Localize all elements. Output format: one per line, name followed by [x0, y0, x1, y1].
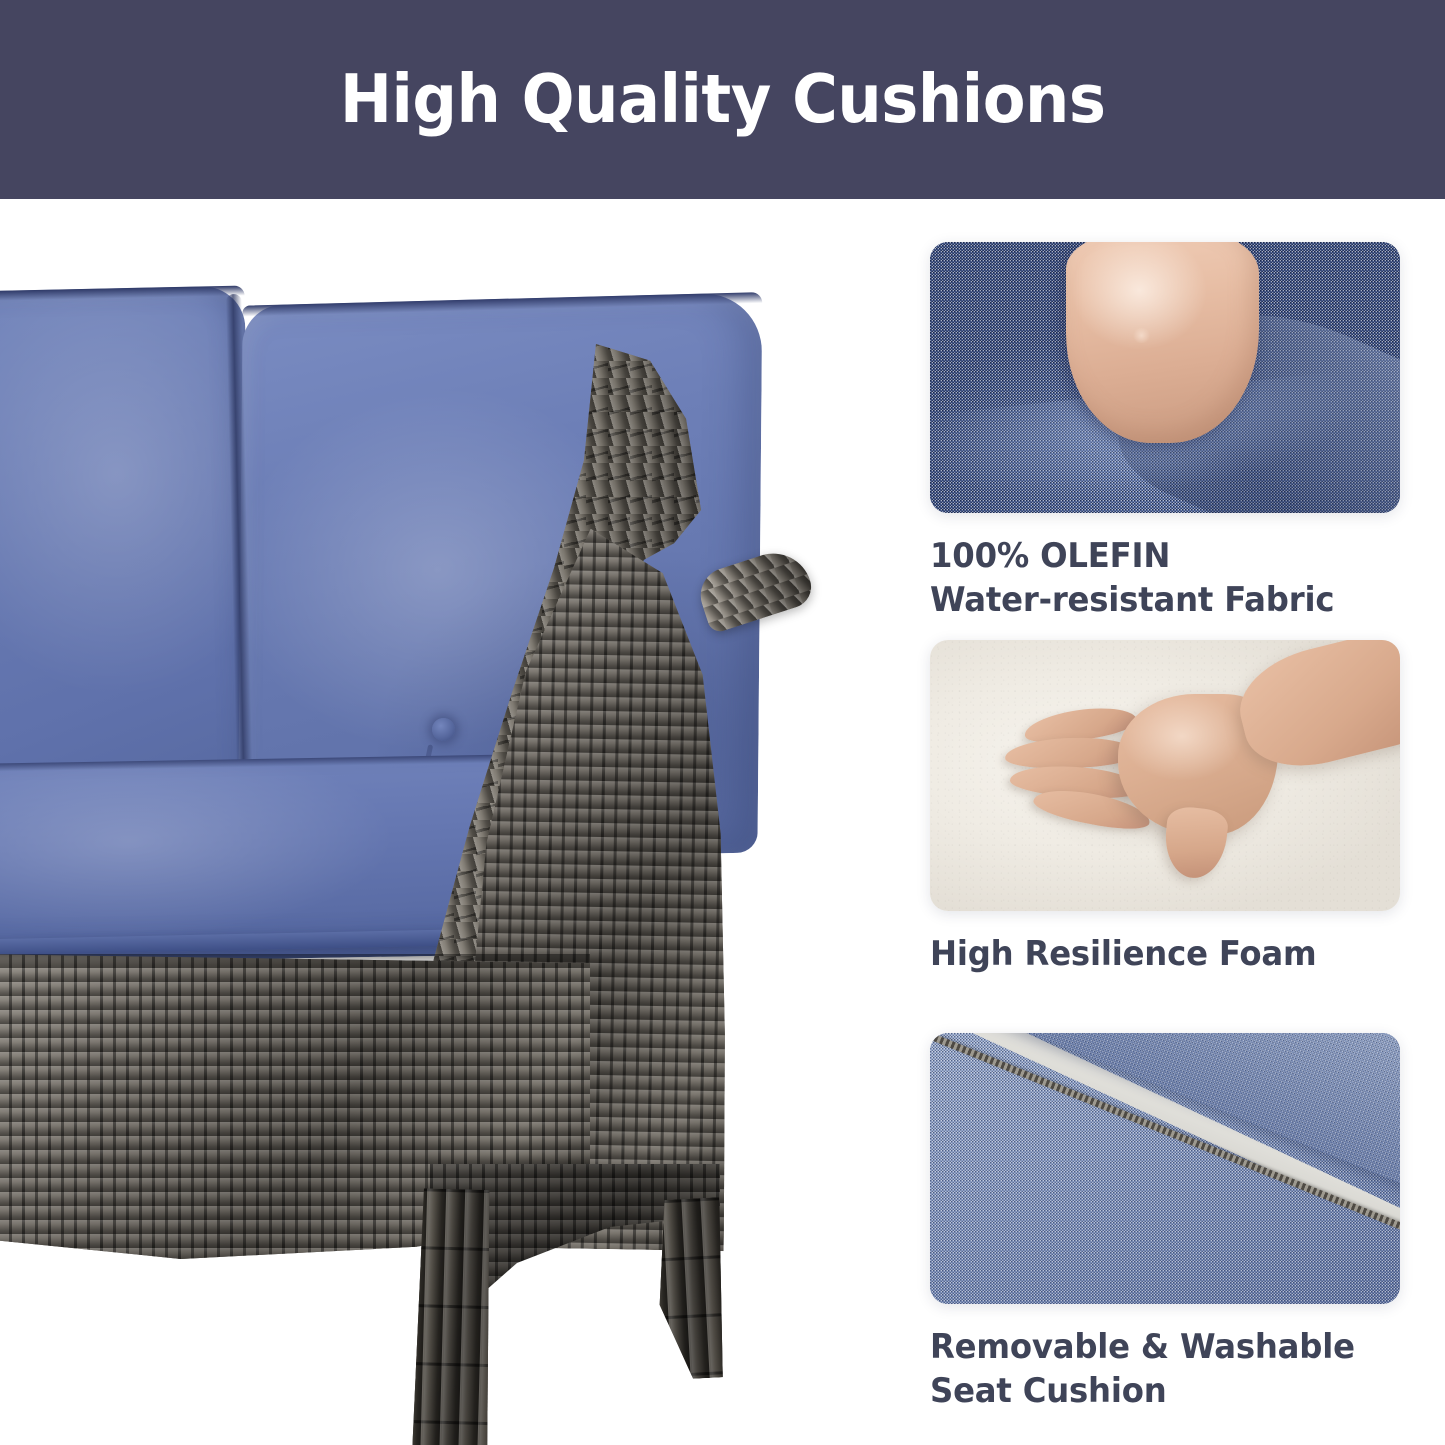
feature-caption-removable-cover: Removable & Washable Seat Cushion: [930, 1326, 1377, 1413]
feature-image-open-zipper-on-blue-cushion: [930, 1033, 1400, 1304]
feature-caption-resilience-foam: High Resilience Foam: [930, 933, 1377, 977]
back-cushion-left: [0, 286, 256, 823]
hero-product-image: [0, 199, 900, 1445]
feature-caption-olefin-fabric: 100% OLEFIN Water-resistant Fabric: [930, 535, 1377, 622]
feature-image-hand-pressing-white-foam: [930, 640, 1400, 911]
caption-line-2: Water-resistant Fabric: [930, 579, 1377, 623]
caption-line-2: Seat Cushion: [930, 1370, 1377, 1414]
header-banner: High Quality Cushions: [0, 0, 1445, 199]
caption-line-1: Removable & Washable: [930, 1326, 1377, 1370]
knuckle-highlight: [1132, 328, 1151, 343]
base-shadow-line: [0, 954, 590, 968]
caption-line-1: High Resilience Foam: [930, 933, 1377, 977]
feature-item-olefin-fabric: 100% OLEFIN Water-resistant Fabric: [930, 242, 1400, 622]
feature-item-removable-cover: Removable & Washable Seat Cushion: [930, 1033, 1400, 1413]
caption-line-1: 100% OLEFIN: [930, 535, 1377, 579]
page-title: High Quality Cushions: [340, 64, 1106, 134]
fist-icon: [1066, 242, 1259, 443]
feature-list: 100% OLEFIN Water-resistant Fabric High …: [900, 199, 1445, 1445]
feature-item-resilience-foam: High Resilience Foam: [930, 640, 1400, 977]
feature-image-fist-pressing-blue-fabric: [930, 242, 1400, 513]
